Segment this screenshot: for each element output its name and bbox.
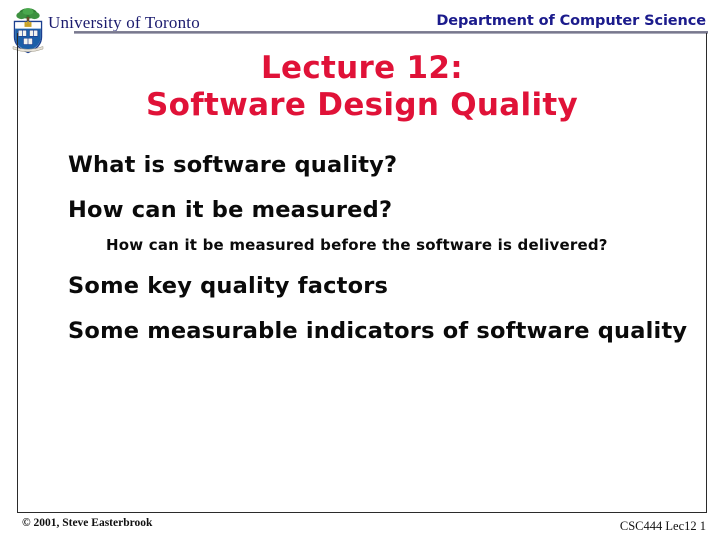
bullet-item-2-sub-1: How can it be measured before the softwa… [106, 236, 698, 254]
bullet-item-3: Some key quality factors [68, 273, 698, 299]
footer-course-reference: CSC444 Lec12 1 [620, 519, 706, 534]
uoft-crest-icon [8, 6, 48, 54]
slide-title-line-1: Lecture 12: [17, 50, 707, 87]
slide-title: Lecture 12: Software Design Quality [17, 50, 707, 123]
footer-copyright: © 2001, Steve Easterbrook [22, 517, 152, 529]
university-name: University of Toronto [48, 13, 200, 33]
header-divider-rule [74, 31, 708, 34]
slide-bullet-list: What is software quality? How can it be … [68, 152, 698, 344]
bullet-item-2: How can it be measured? [68, 197, 698, 223]
slide-title-line-2: Software Design Quality [17, 87, 707, 124]
bullet-item-1: What is software quality? [68, 152, 698, 178]
department-name: Department of Computer Science [436, 13, 706, 29]
bullet-item-4: Some measurable indicators of software q… [68, 318, 698, 344]
slide-header: University of Toronto Department of Comp… [0, 0, 720, 36]
